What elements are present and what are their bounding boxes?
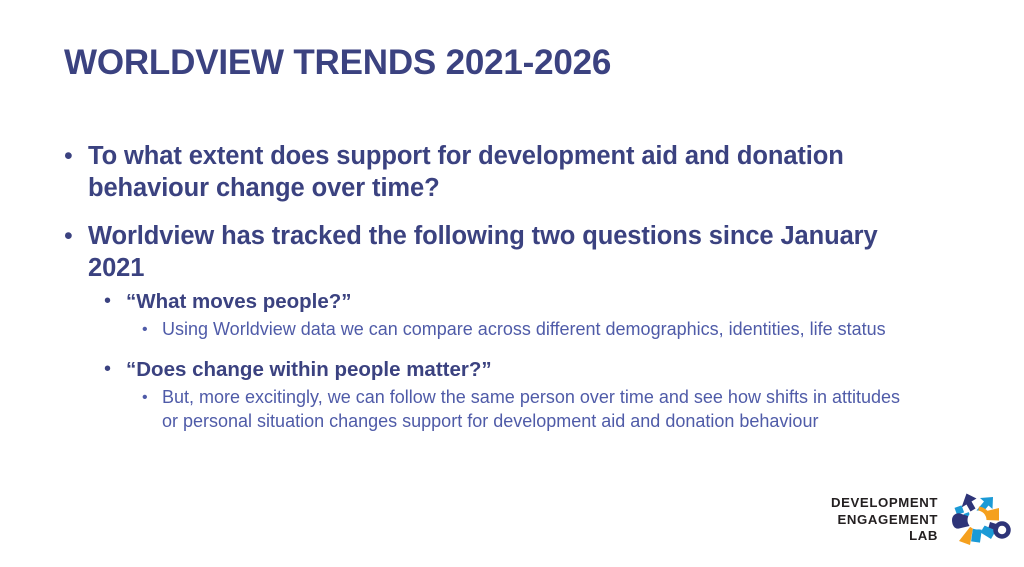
organization-logo: DEVELOPMENT ENGAGEMENT LAB [812, 486, 1012, 554]
bullet-level2-item: • “What moves people?” [0, 288, 1024, 315]
logo-wordmark-line2: ENGAGEMENT [831, 512, 938, 529]
bullet-level3-item: • Using Worldview data we can compare ac… [0, 318, 1024, 342]
bullet-level3-text: Using Worldview data we can compare acro… [162, 318, 914, 342]
bullet-level2-item: • “Does change within people matter?” [0, 356, 1024, 383]
bullet-marker-icon: • [64, 220, 88, 252]
bullet-marker-icon: • [142, 386, 162, 410]
bullet-level1-item: • Worldview has tracked the following tw… [0, 220, 1024, 284]
logo-wordmark-line3: LAB [831, 528, 938, 545]
spacer [0, 342, 1024, 352]
bullet-marker-icon: • [104, 356, 126, 383]
bullet-marker-icon: • [142, 318, 162, 342]
bullet-level3-item: • But, more excitingly, we can follow th… [0, 386, 1024, 433]
bullet-level1-text: Worldview has tracked the following two … [88, 220, 928, 284]
logo-wordmark-line1: DEVELOPMENT [831, 495, 938, 512]
bullet-level2-text: “Does change within people matter?” [126, 356, 926, 383]
bullet-level2-text: “What moves people?” [126, 288, 926, 315]
bullet-marker-icon: • [104, 288, 126, 315]
bullet-level3-text: But, more excitingly, we can follow the … [162, 386, 914, 433]
presentation-slide: WORLDVIEW TRENDS 2021-2026 • To what ext… [0, 0, 1024, 567]
bullet-level1-item: • To what extent does support for develo… [0, 140, 1024, 204]
slide-body: • To what extent does support for develo… [0, 140, 1024, 433]
bullet-level1-text: To what extent does support for developm… [88, 140, 928, 204]
development-engagement-lab-radial-icon [946, 489, 1012, 551]
slide-title: WORLDVIEW TRENDS 2021-2026 [64, 44, 611, 83]
bullet-marker-icon: • [64, 140, 88, 172]
logo-wordmark: DEVELOPMENT ENGAGEMENT LAB [831, 495, 938, 545]
spacer [0, 206, 1024, 220]
